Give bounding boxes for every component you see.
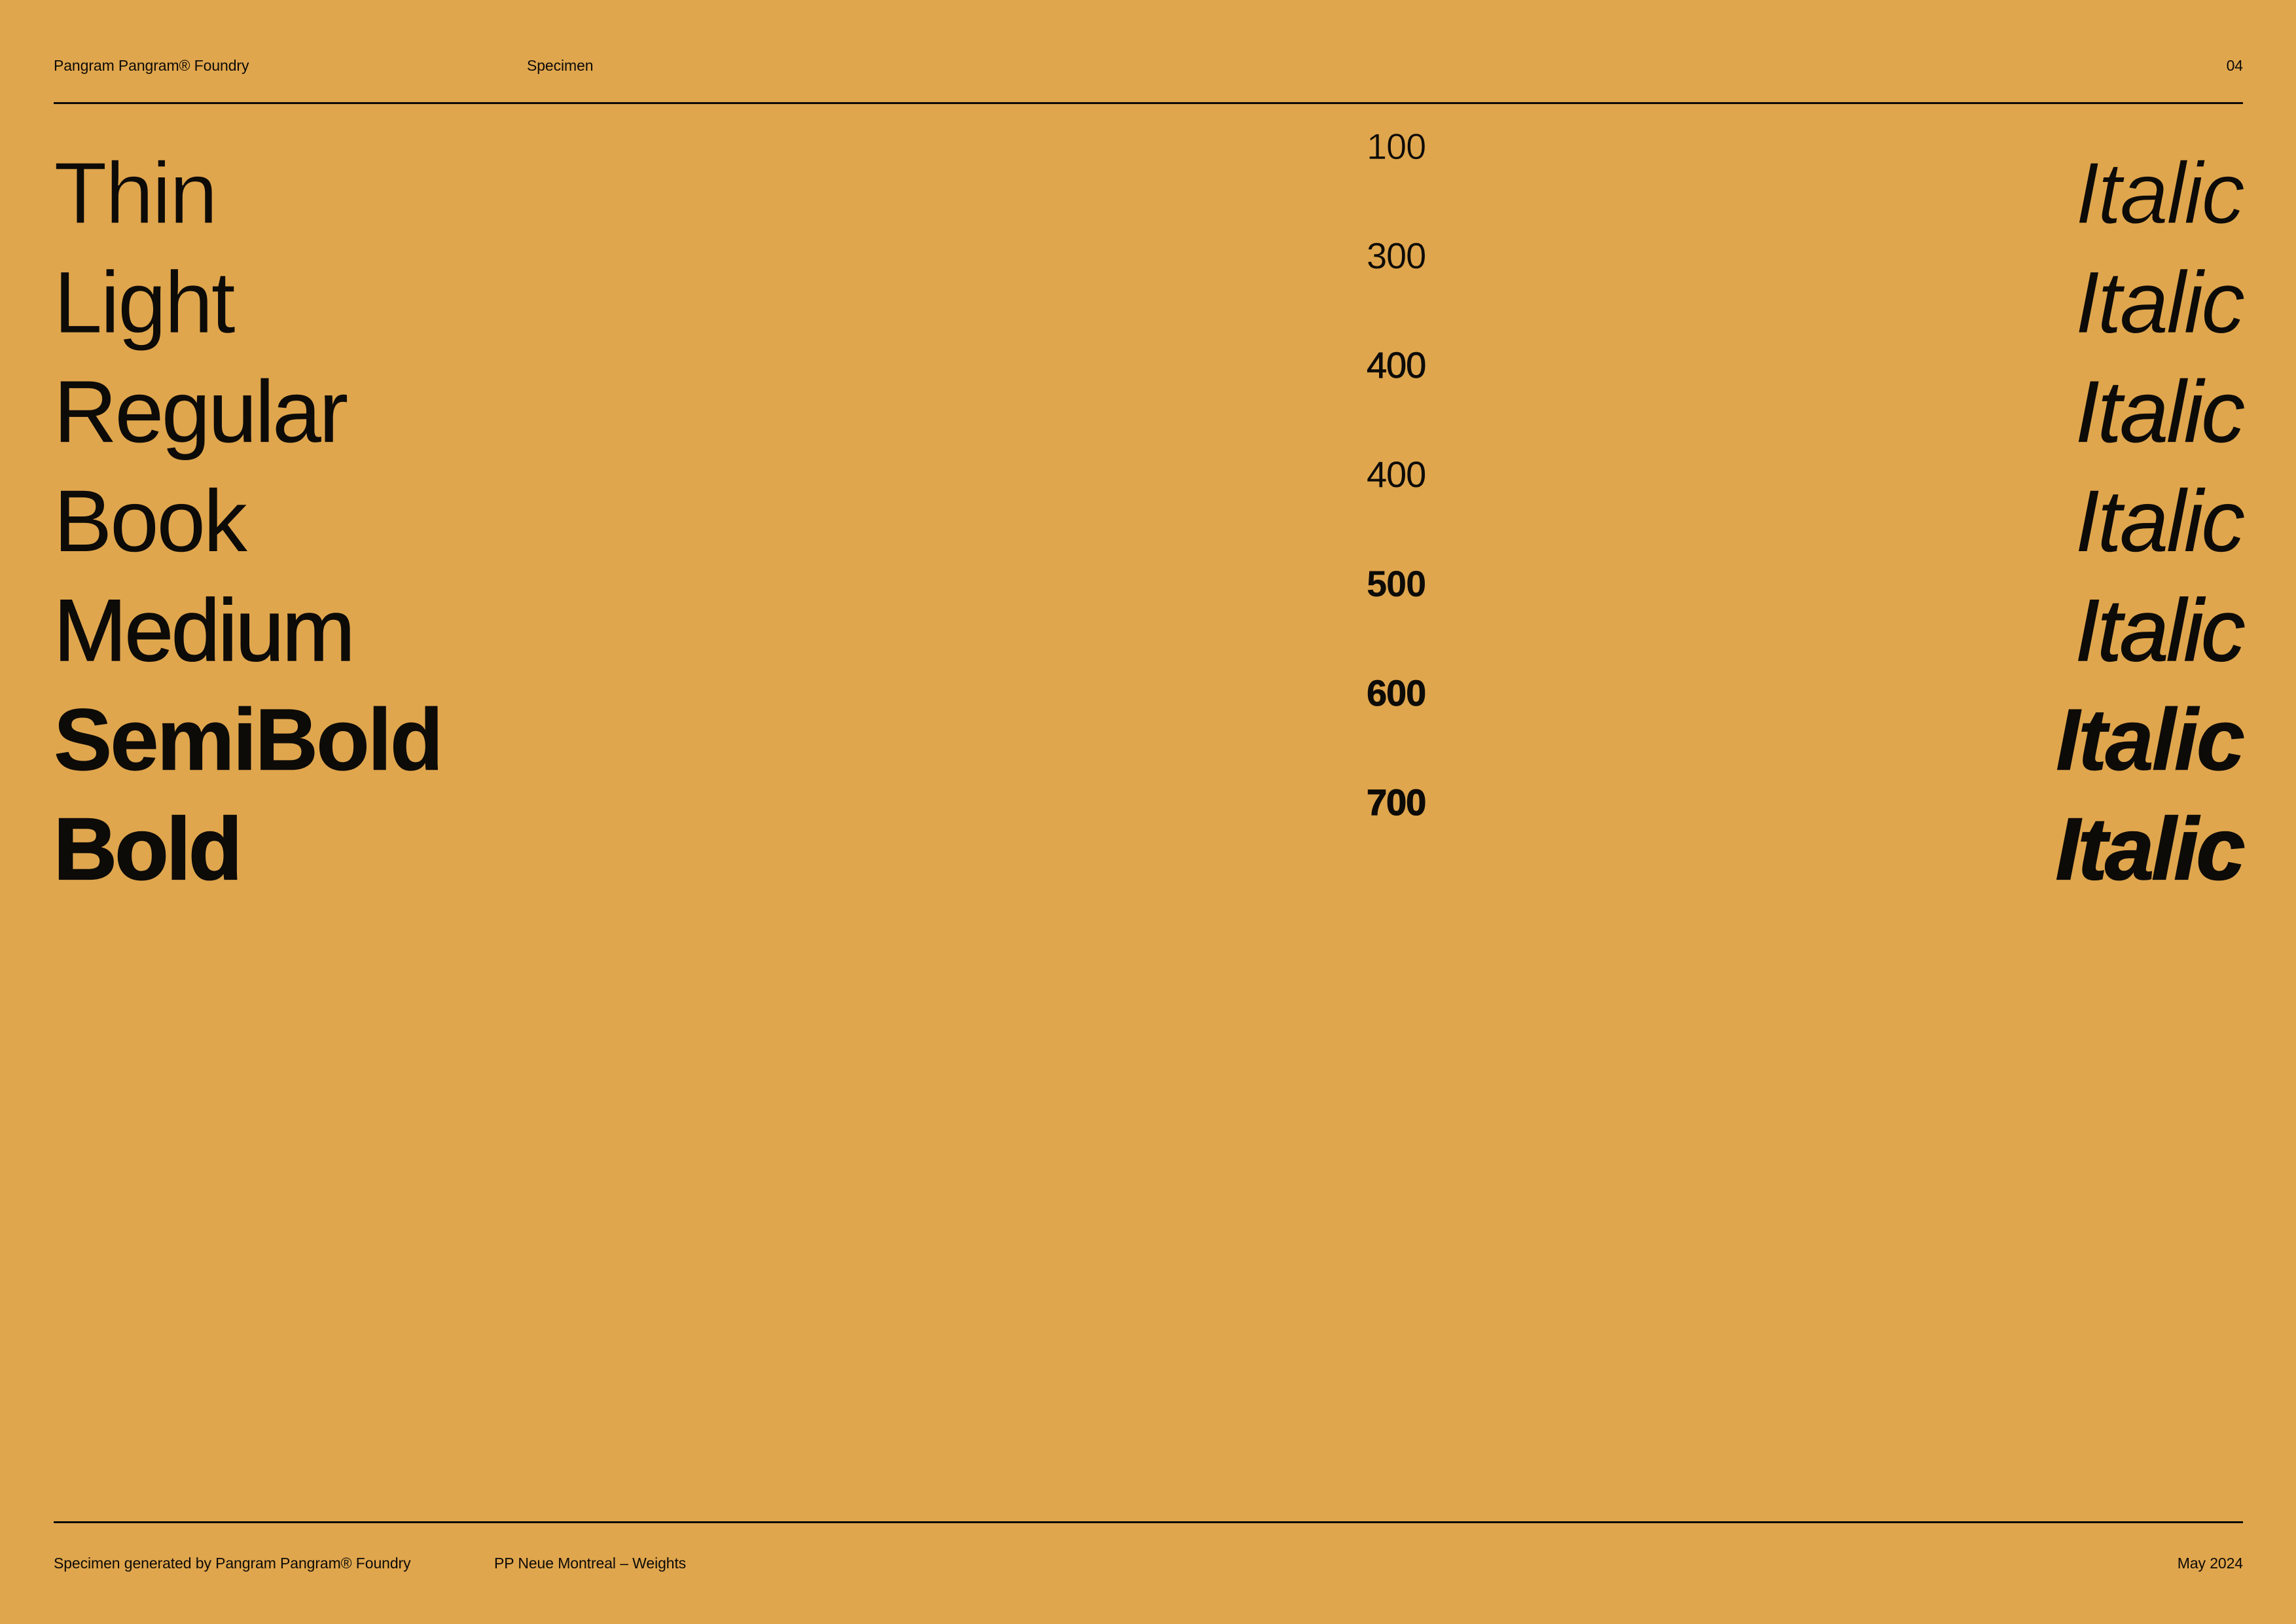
footer-divider [54,1521,2243,1523]
weight-value: 600 [1367,675,1426,712]
weight-name: Light [54,259,234,347]
section-label: Specimen [527,52,593,79]
weight-value: 400 [1367,456,1426,493]
weight-italic-sample: Italic [2056,696,2243,784]
weight-italic-sample: Italic [2075,587,2243,675]
weight-value: 300 [1367,238,1426,274]
weight-value: 100 [1367,128,1426,165]
page-number: 04 [2227,52,2243,79]
footer-generated-by: Specimen generated by Pangram Pangram® F… [54,1550,410,1576]
weight-row: Regular 400 Italic [54,347,2243,456]
weight-row: Thin 100 Italic [54,128,2243,238]
weight-value: 400 [1367,347,1426,384]
weight-table: Thin 100 Italic Light 300 Italic Regular… [54,128,2243,893]
weight-row: Bold 700 Italic [54,784,2243,893]
weight-italic-sample: Italic [2075,150,2243,238]
weight-row: Medium 500 Italic [54,566,2243,675]
page-header: Pangram Pangram® Foundry Specimen 04 [54,52,2243,79]
specimen-page: Pangram Pangram® Foundry Specimen 04 Thi… [0,0,2296,1624]
weight-italic-sample: Italic [2075,259,2243,347]
weight-name: Thin [54,150,216,238]
foundry-name: Pangram Pangram® Foundry [54,52,249,79]
weight-italic-sample: Italic [2075,478,2243,566]
page-footer: Specimen generated by Pangram Pangram® F… [54,1550,2243,1576]
footer-typeface-name: PP Neue Montreal – Weights [494,1550,686,1576]
weight-value: 700 [1367,784,1426,821]
header-divider [54,102,2243,104]
weight-name: Bold [54,806,240,893]
weight-name: Regular [54,369,346,456]
weight-name: Medium [54,587,353,675]
weight-italic-sample: Italic [2056,806,2243,893]
weight-row: Book 400 Italic [54,456,2243,566]
weight-name: Book [54,478,245,566]
weight-row: Light 300 Italic [54,238,2243,347]
weight-italic-sample: Italic [2075,369,2243,456]
weight-value: 500 [1367,566,1426,602]
footer-date: May 2024 [2178,1550,2243,1576]
header-row: Pangram Pangram® Foundry Specimen 04 [54,52,2243,79]
weight-row: SemiBold 600 Italic [54,675,2243,784]
weight-name: SemiBold [54,696,441,784]
